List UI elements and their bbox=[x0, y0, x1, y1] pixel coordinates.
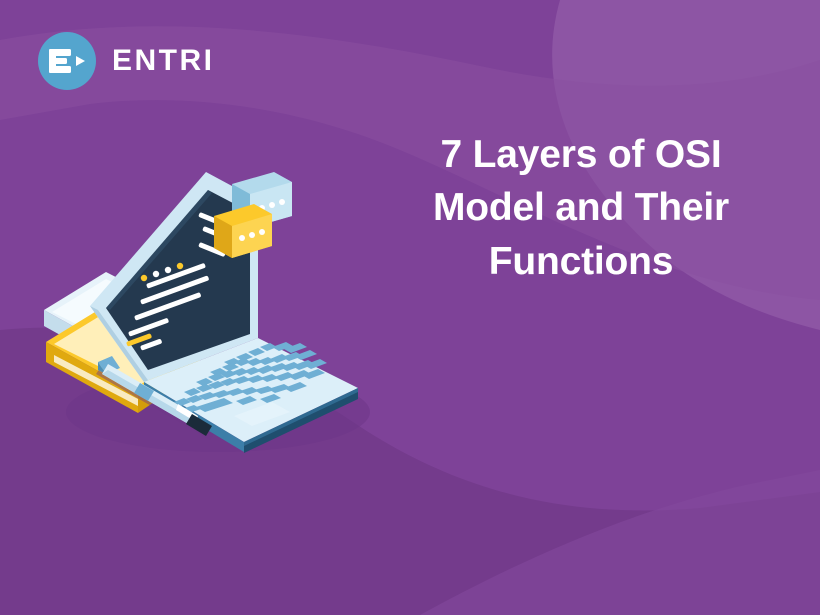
page-title-line-1: 7 Layers of OSI bbox=[398, 128, 764, 181]
page-title-line-3: Functions bbox=[398, 235, 764, 288]
page-title-line-2: Model and Their bbox=[398, 181, 764, 234]
laptop-illustration-svg bbox=[28, 150, 388, 470]
banner-root: ENTRI 7 Layers of OSI Model and Their Fu… bbox=[0, 0, 820, 615]
brand-name-text: ENTRI bbox=[112, 46, 215, 76]
screen-dot bbox=[165, 267, 171, 273]
brand-logo[interactable]: ENTRI bbox=[38, 32, 215, 90]
logo-circle bbox=[38, 32, 96, 90]
entri-e-icon bbox=[47, 45, 87, 77]
screen-dot bbox=[153, 271, 159, 277]
page-title: 7 Layers of OSI Model and Their Function… bbox=[398, 128, 764, 288]
screen-dot bbox=[177, 263, 183, 269]
screen-dot bbox=[141, 275, 147, 281]
laptop-illustration bbox=[28, 150, 388, 470]
